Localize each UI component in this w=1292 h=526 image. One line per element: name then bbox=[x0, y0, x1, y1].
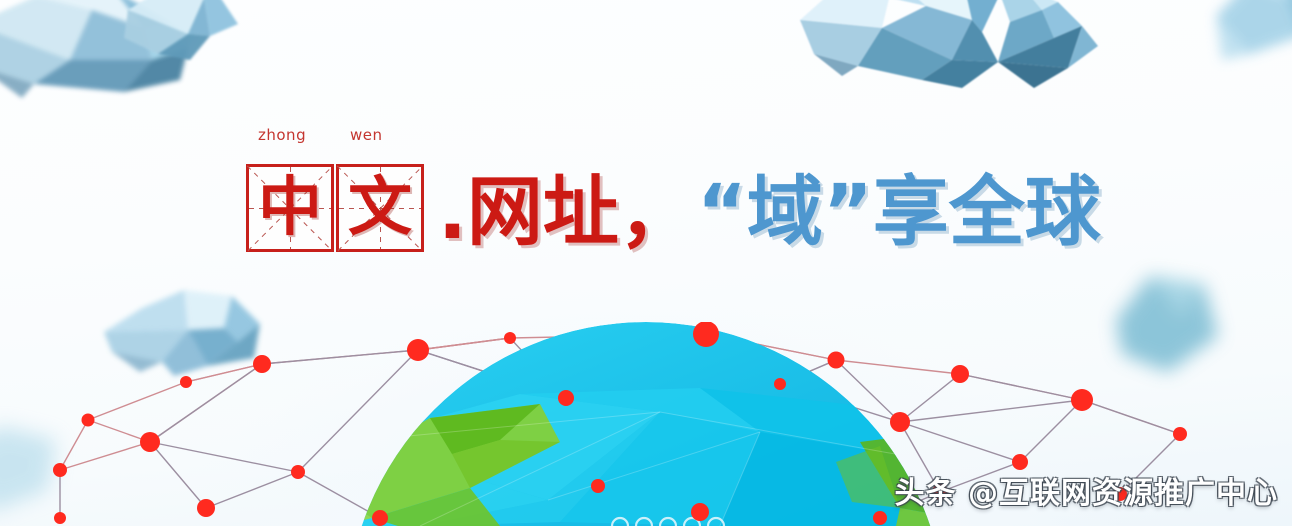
grid-character-zhong: 中 bbox=[249, 167, 331, 249]
comma-separator: ， bbox=[619, 176, 695, 252]
pinyin-wen: wen bbox=[350, 126, 383, 144]
pinyin-zhong: zhong bbox=[258, 126, 306, 144]
tianzige-cell-2: 文 bbox=[336, 164, 424, 252]
tianzige-grid: 中 文 bbox=[246, 164, 432, 252]
pinyin-row: zhong wen bbox=[246, 126, 432, 156]
poster-canvas: zhong wen 中 文 .网址 ， “域”享全球 bbox=[0, 0, 1292, 526]
wordmark: .网址 ， “域”享全球 bbox=[438, 160, 1101, 264]
grid-character-wen: 文 bbox=[339, 167, 421, 249]
cloud-top-left-icon bbox=[0, 0, 224, 116]
cloud-top-right-edge-icon bbox=[1216, 0, 1292, 66]
cloud-top-middle-icon bbox=[118, 0, 248, 72]
tagline-text: “域”享全球 bbox=[697, 174, 1101, 250]
headline-block: zhong wen 中 文 .网址 ， “域”享全球 bbox=[0, 126, 1292, 286]
tianzige-cell-1: 中 bbox=[246, 164, 334, 252]
cloud-top-right-icon bbox=[786, 0, 1104, 102]
domain-suffix-text: .网址 bbox=[438, 174, 619, 250]
watermark-text: 头条 @互联网资源推广中心 bbox=[895, 468, 1278, 512]
